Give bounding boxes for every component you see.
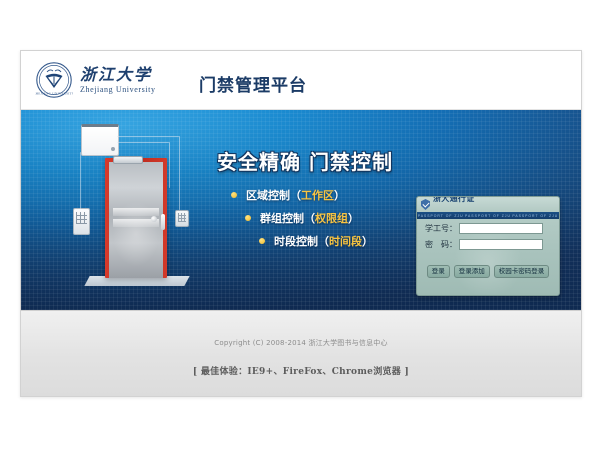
feature-item-time-control: 时段控制（时间段） xyxy=(259,233,407,249)
svg-text:ZHEJIANG UNIVERSITY: ZHEJIANG UNIVERSITY xyxy=(35,91,73,95)
feature-tail: ） xyxy=(348,210,359,226)
controller-box-icon xyxy=(81,124,119,156)
university-logo[interactable]: ZHEJIANG UNIVERSITY 浙江大学 Zhejiang Univer… xyxy=(35,61,156,99)
banner-copy: 安全精确 门禁控制 区域控制（工作区） 群组控制（权限组） 时段控制（时间段） xyxy=(217,146,407,256)
copyright-text: Copyright (C) 2008-2014 浙江大学图书与信息中心 xyxy=(21,338,581,348)
student-staff-id-label: 学工号： xyxy=(425,223,459,234)
logo-text-block: 浙江大学 Zhejiang University xyxy=(80,66,156,95)
card-reader-icon xyxy=(175,210,189,227)
feature-accent: 权限组 xyxy=(315,210,348,226)
door-knob-icon xyxy=(151,216,157,222)
field-row-student-staff-id: 学工号： xyxy=(425,223,559,234)
feature-tail: ） xyxy=(334,187,345,203)
cable-line xyxy=(117,136,179,137)
bullet-dot-icon xyxy=(231,192,237,198)
logo-name-en: Zhejiang University xyxy=(80,85,156,95)
strip-text: PASSPORT OF ZJU xyxy=(418,214,464,218)
feature-tail: ） xyxy=(362,233,373,249)
door-closer-icon xyxy=(113,156,143,164)
password-input[interactable] xyxy=(459,239,543,250)
login-button-group: 登录 登录添加 校园卡密码登录 xyxy=(417,265,559,278)
passport-strip: PASSPORT OF ZJU PASSPORT OF ZJU PASSPORT… xyxy=(417,212,559,219)
cable-line xyxy=(169,142,170,188)
cable-line xyxy=(179,136,180,210)
feature-text: 群组控制（ xyxy=(260,210,315,226)
logo-name-cn: 浙江大学 xyxy=(80,66,156,84)
login-panel-header: 浙大通行证 PASSPORT OF ZJU xyxy=(417,197,559,212)
strip-text: PASSPORT OF ZJU xyxy=(512,214,558,218)
security-door-icon xyxy=(105,158,167,278)
shield-icon xyxy=(421,199,430,210)
feature-accent: 工作区 xyxy=(301,187,334,203)
browser-support-note: [ 最佳体验：IE9+、FireFox、Chrome浏览器 ] xyxy=(21,364,581,377)
strip-text: PASSPORT OF ZJU xyxy=(465,214,511,218)
site-footer: Copyright (C) 2008-2014 浙江大学图书与信息中心 [ 最佳… xyxy=(21,310,581,397)
login-panel-title-cn: 浙大通行证 xyxy=(433,196,475,203)
site-header: ZHEJIANG UNIVERSITY 浙江大学 Zhejiang Univer… xyxy=(21,51,581,110)
door-handle-icon xyxy=(161,214,165,230)
login-form: 学工号： 密 码： xyxy=(417,223,559,255)
password-label: 密 码： xyxy=(425,239,459,250)
feature-item-area-control: 区域控制（工作区） xyxy=(231,187,407,203)
page-root: ZHEJIANG UNIVERSITY 浙江大学 Zhejiang Univer… xyxy=(0,0,600,450)
door-band xyxy=(113,208,159,216)
bullet-dot-icon xyxy=(245,215,251,221)
door-status-led xyxy=(163,236,166,241)
feature-item-group-control: 群组控制（权限组） xyxy=(245,210,407,226)
cable-line xyxy=(117,142,169,143)
main-card: ZHEJIANG UNIVERSITY 浙江大学 Zhejiang Univer… xyxy=(20,50,582,397)
feature-list: 区域控制（工作区） 群组控制（权限组） 时段控制（时间段） xyxy=(217,187,407,249)
feature-text: 时段控制（ xyxy=(274,233,329,249)
campus-card-login-button[interactable]: 校园卡密码登录 xyxy=(494,265,550,278)
student-staff-id-input[interactable] xyxy=(459,223,543,234)
hero-banner: 安全精确 门禁控制 区域控制（工作区） 群组控制（权限组） 时段控制（时间段） xyxy=(21,110,581,310)
bullet-dot-icon xyxy=(259,238,265,244)
banner-headline: 安全精确 门禁控制 xyxy=(217,146,407,175)
page-title: 门禁管理平台 xyxy=(199,71,307,96)
login-panel: 浙大通行证 PASSPORT OF ZJU PASSPORT OF ZJU PA… xyxy=(416,196,560,296)
feature-text: 区域控制（ xyxy=(246,187,301,203)
feature-accent: 时间段 xyxy=(329,233,362,249)
field-row-password: 密 码： xyxy=(425,239,559,250)
login-add-button[interactable]: 登录添加 xyxy=(454,265,490,278)
access-control-door-illustration xyxy=(67,118,199,298)
zju-emblem-icon: ZHEJIANG UNIVERSITY xyxy=(35,61,73,99)
login-button[interactable]: 登录 xyxy=(427,265,450,278)
keypad-reader-icon xyxy=(73,208,90,235)
cable-line xyxy=(80,152,81,209)
